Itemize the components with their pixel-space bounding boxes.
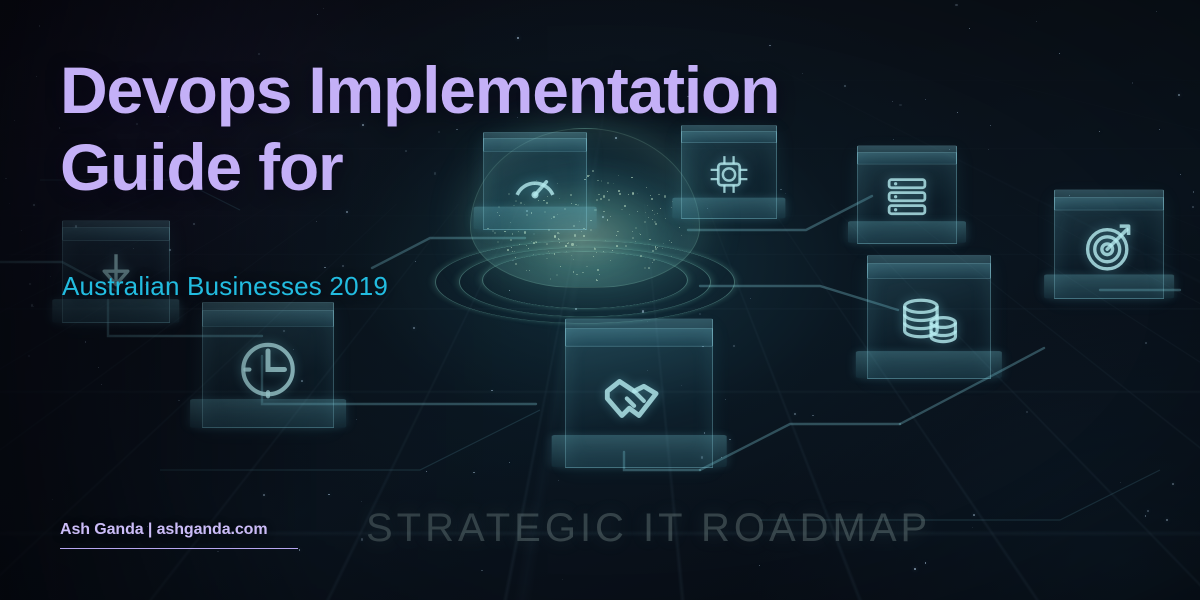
dome-speckle (607, 219, 608, 220)
dome-speckle (596, 252, 597, 253)
dome-speckle (612, 250, 613, 251)
dome-speckle (571, 243, 573, 245)
title-line-1: Devops Implementation (60, 53, 779, 127)
dome-speckle (665, 218, 666, 219)
dome-speckle (528, 248, 530, 250)
dome-speckle (649, 239, 650, 240)
dome-speckle (652, 210, 653, 211)
dome-speckle (599, 274, 600, 275)
slide-canvas: STRATEGIC IT ROADMAP Devops Implementati… (0, 0, 1200, 600)
dome-speckle (671, 242, 672, 243)
dome-speckle (624, 205, 626, 207)
dome-speckle (644, 221, 646, 223)
dome-speckle (512, 251, 513, 252)
dome-speckle (621, 209, 623, 211)
dome-speckle (616, 245, 618, 247)
node-cube-lid (202, 302, 334, 327)
dome-speckle (605, 240, 606, 241)
dome-speckle (566, 251, 567, 252)
node-cube-lid (1054, 190, 1164, 211)
dome-speckle (560, 266, 561, 267)
dome-speckle (596, 280, 597, 281)
dome-speckle (663, 243, 664, 244)
dome-speckle (654, 214, 655, 215)
dome-speckle (652, 219, 653, 220)
dome-speckle (635, 241, 636, 242)
dome-speckle (571, 255, 572, 256)
dome-speckle (546, 243, 548, 245)
server-stack-icon (881, 171, 933, 228)
dome-speckle (657, 213, 658, 214)
dome-speckle (556, 274, 558, 276)
dome-speckle (507, 249, 509, 251)
footer-attribution: Ash Ganda | ashganda.com (60, 521, 298, 549)
dome-speckle (644, 267, 646, 269)
dome-speckle (546, 258, 548, 260)
dome-speckle (526, 245, 527, 246)
dome-speckle (597, 269, 599, 271)
dome-speckle (594, 247, 596, 249)
dome-speckle (660, 208, 661, 209)
dome-speckle (610, 216, 611, 217)
node-cube-lid (857, 145, 957, 164)
clock-icon (235, 336, 301, 407)
handshake-icon (600, 360, 678, 443)
dome-speckle (526, 270, 527, 271)
node-cube-lid (565, 319, 713, 347)
dome-speckle (603, 251, 605, 253)
dome-speckle (637, 211, 638, 212)
dome-speckle (576, 245, 577, 246)
network-node-target-dart (1044, 182, 1174, 312)
dome-speckle (640, 255, 642, 257)
node-cube-lid (867, 255, 991, 278)
dome-speckle (625, 245, 627, 247)
dome-speckle (582, 272, 584, 274)
dome-speckle (669, 240, 670, 241)
dome-speckle (645, 212, 646, 213)
title-line-2: Guide for (60, 130, 343, 204)
page-subtitle: Australian Businesses 2019 (62, 271, 388, 302)
dome-speckle (616, 235, 617, 236)
dome-speckle (550, 278, 552, 280)
dome-speckle (519, 244, 520, 245)
network-node-clock (190, 292, 346, 443)
dome-speckle (640, 234, 641, 235)
dome-speckle (533, 254, 534, 255)
dome-speckle (654, 221, 656, 223)
dome-speckle (629, 214, 630, 215)
dome-speckle (648, 217, 649, 218)
dome-speckle (593, 256, 594, 257)
footer-label: Ash Ganda | ashganda.com (60, 521, 267, 538)
dome-speckle (549, 253, 550, 254)
dome-speckle (515, 263, 516, 264)
dome-speckle (652, 262, 653, 263)
watermark-text: STRATEGIC IT ROADMAP (366, 506, 931, 551)
dome-speckle (529, 270, 530, 271)
page-title: Devops Implementation Guide for (60, 52, 860, 205)
dome-speckle (635, 227, 637, 229)
dome-speckle (655, 223, 657, 225)
dome-speckle (653, 259, 655, 261)
dome-speckle (576, 274, 578, 276)
dome-speckle (632, 237, 634, 239)
dome-speckle (514, 251, 515, 252)
dome-speckle (586, 266, 588, 268)
dome-speckle (554, 253, 555, 254)
dome-speckle (655, 248, 657, 250)
dome-speckle (511, 247, 512, 248)
network-node-coins-stack (856, 246, 1002, 393)
dome-speckle (610, 260, 611, 261)
dome-speckle (565, 245, 567, 247)
dome-speckle (681, 235, 682, 236)
dome-speckle (573, 271, 575, 273)
dome-speckle (648, 267, 650, 269)
dome-speckle (671, 256, 672, 257)
coins-stack-icon (897, 288, 962, 358)
dome-speckle (618, 231, 619, 232)
dome-speckle (548, 251, 549, 252)
network-node-handshake (552, 308, 727, 485)
dome-speckle (573, 259, 574, 260)
node-cube-lid (62, 220, 170, 240)
network-node-server-stack (848, 138, 966, 255)
dome-speckle (662, 248, 663, 249)
target-dart-icon (1080, 219, 1137, 281)
dome-speckle (647, 205, 648, 206)
dome-speckle (567, 243, 568, 244)
dome-speckle (632, 231, 633, 232)
dome-speckle (559, 242, 560, 243)
dome-speckle (515, 257, 516, 258)
dome-speckle (603, 211, 604, 212)
dome-speckle (568, 242, 570, 244)
dome-speckle (652, 250, 654, 252)
